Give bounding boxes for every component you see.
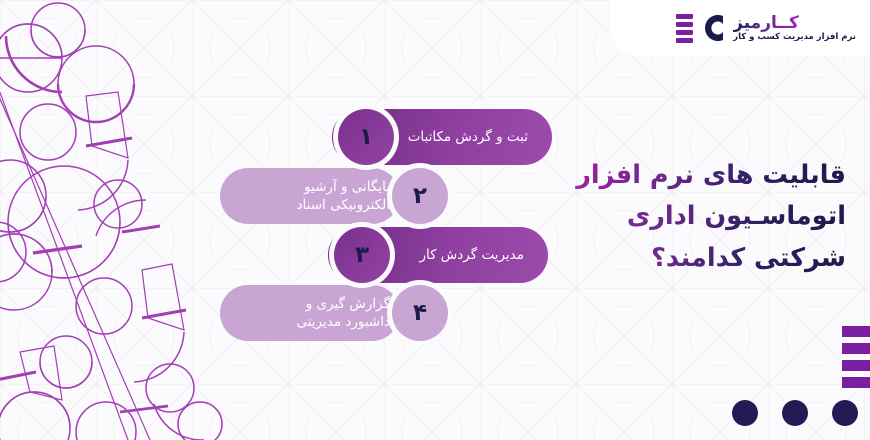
letter-c-icon: [701, 11, 725, 45]
accent-dot: [832, 400, 858, 426]
heading-line-3: شرکتی کدامند؟: [546, 238, 846, 279]
accent-dots: [732, 400, 858, 426]
accent-dot: [782, 400, 808, 426]
infographic-canvas: کــارمیز نرم افزار مدیریت کسب و کار قابل…: [0, 0, 870, 440]
step-number-4: ۴: [413, 302, 427, 325]
step-badge-4: ۴: [392, 285, 448, 341]
brand-subtitle: نرم افزار مدیریت کسب و کار: [733, 33, 856, 42]
step-pill-2[interactable]: بایگانی و آرشیو الکترونیکی اسناد: [220, 168, 400, 224]
step-number-3: ۳: [355, 244, 369, 267]
step-badge-3: ۳: [334, 227, 390, 283]
step-badge-1: ۱: [338, 109, 394, 165]
brand-logo[interactable]: کــارمیز نرم افزار مدیریت کسب و کار: [676, 6, 856, 50]
heading-line-2: اتوماسـیون اداری: [546, 196, 846, 237]
stacked-bars-icon: [676, 14, 693, 43]
step-label-2: بایگانی و آرشیو الکترونیکی اسناد: [234, 178, 400, 214]
heading-line-1: قابلیت های نرم افزار: [546, 155, 846, 196]
brand-title: کــارمیز: [733, 15, 799, 32]
step-number-2: ۲: [413, 185, 427, 208]
step-number-1: ۱: [359, 126, 373, 149]
page-title: قابلیت های نرم افزار اتوماسـیون اداری شر…: [546, 155, 846, 279]
step-pill-4[interactable]: گزارش گیری و داشبورد مدیریتی: [220, 285, 400, 341]
accent-dot: [732, 400, 758, 426]
step-badge-2: ۲: [392, 168, 448, 224]
step-label-4: گزارش گیری و داشبورد مدیریتی: [234, 295, 400, 331]
accent-bars: [842, 326, 870, 388]
